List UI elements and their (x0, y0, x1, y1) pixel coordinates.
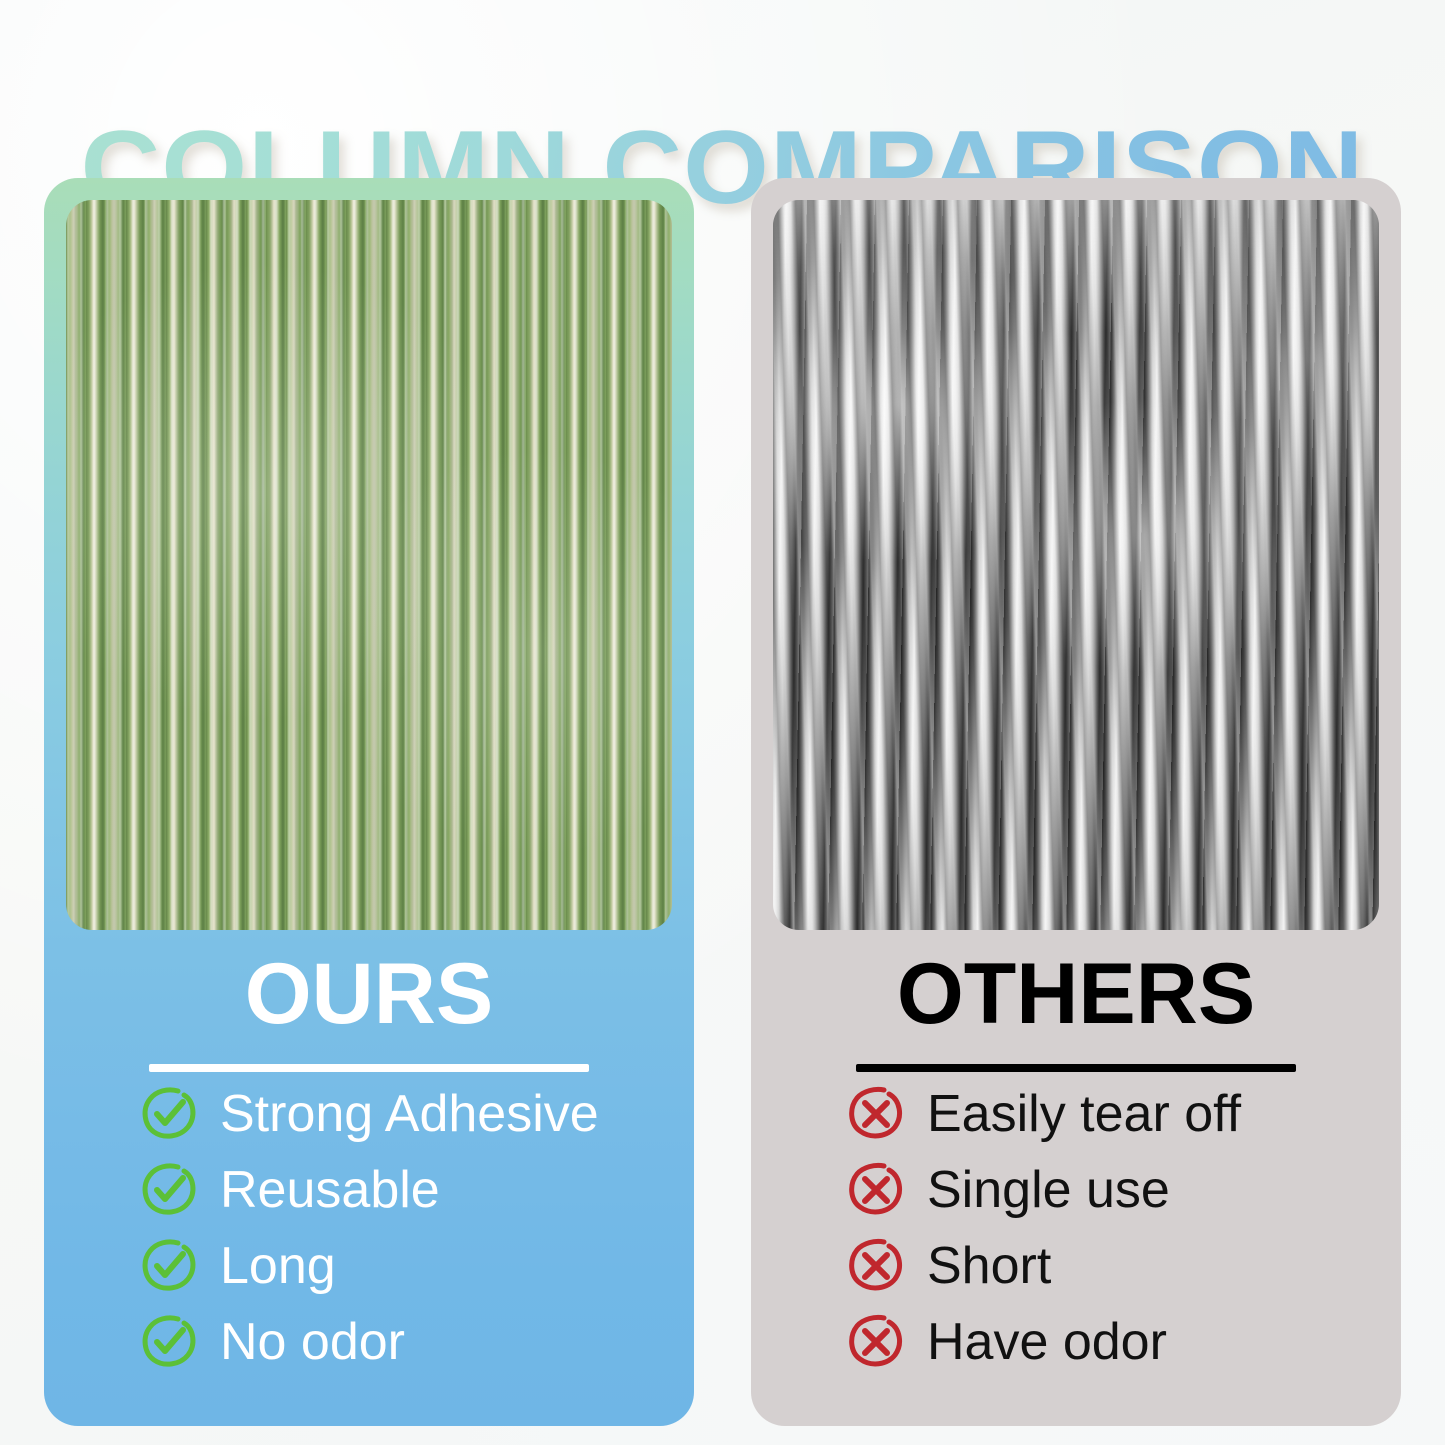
list-item-label: Reusable (220, 1161, 440, 1219)
list-item-label: Easily tear off (927, 1085, 1241, 1143)
list-item: Single use (847, 1152, 1401, 1228)
list-item-label: Long (220, 1237, 336, 1295)
heading-others: OTHERS (751, 948, 1401, 1040)
list-item: Long (140, 1228, 694, 1304)
heading-divider-others (856, 1064, 1296, 1072)
list-item: Strong Adhesive (140, 1076, 694, 1152)
heading-ours: OURS (44, 948, 694, 1040)
list-item: No odor (140, 1304, 694, 1380)
list-item-label: No odor (220, 1313, 405, 1371)
list-item: Easily tear off (847, 1076, 1401, 1152)
list-item-label: Single use (927, 1161, 1170, 1219)
heading-block-ours: OURS (44, 948, 694, 1072)
heading-block-others: OTHERS (751, 948, 1401, 1072)
page-title-container: COLUMN COMPARISON (0, 44, 1445, 156)
check-circle-icon (140, 1085, 198, 1143)
list-item-label: Short (927, 1237, 1051, 1295)
panel-ours: OURS Strong Adhesive (44, 178, 694, 1426)
list-item-label: Have odor (927, 1313, 1167, 1371)
list-item: Short (847, 1228, 1401, 1304)
feature-list-others: Easily tear off Single use (751, 1076, 1401, 1380)
check-circle-icon (140, 1237, 198, 1295)
list-item-label: Strong Adhesive (220, 1085, 599, 1143)
comparison-panels: OURS Strong Adhesive (0, 178, 1445, 1428)
panel-others: OTHERS Easily tear off (751, 178, 1401, 1426)
heading-divider-ours (149, 1064, 589, 1072)
cross-circle-icon (847, 1237, 905, 1295)
cross-circle-icon (847, 1313, 905, 1371)
cross-circle-icon (847, 1085, 905, 1143)
cross-circle-icon (847, 1161, 905, 1219)
product-photo-ours (66, 200, 672, 930)
check-circle-icon (140, 1313, 198, 1371)
list-item: Have odor (847, 1304, 1401, 1380)
list-item: Reusable (140, 1152, 694, 1228)
feature-list-ours: Strong Adhesive Reusable (44, 1076, 694, 1380)
product-photo-others (773, 200, 1379, 930)
check-circle-icon (140, 1161, 198, 1219)
